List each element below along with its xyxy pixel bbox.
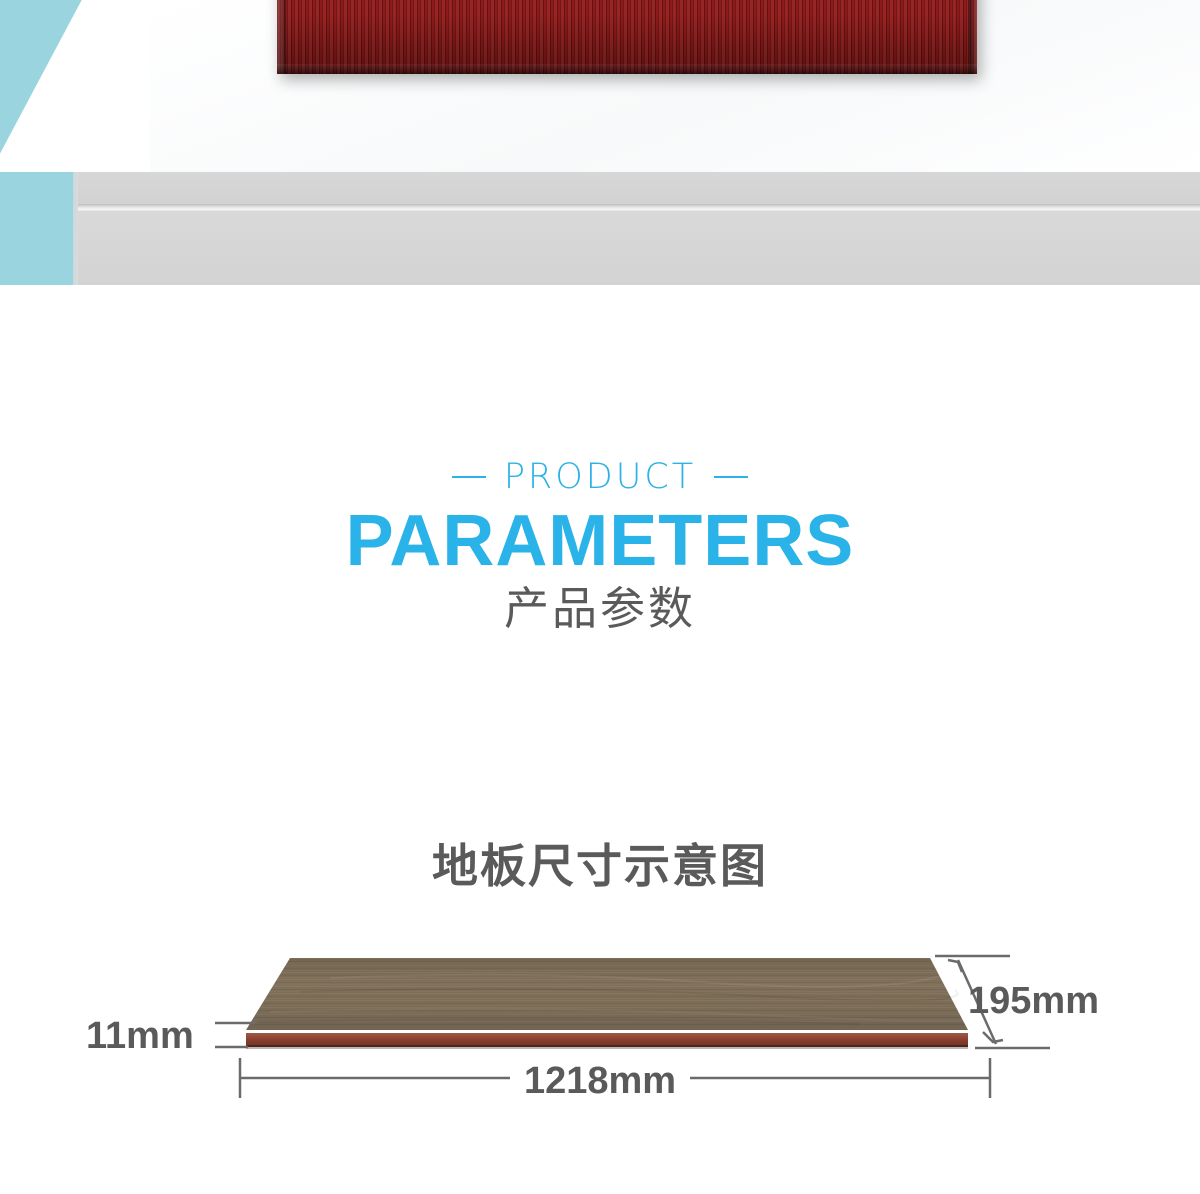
framed-plaque xyxy=(277,0,977,74)
product-photo-banner xyxy=(0,0,1200,285)
dimension-length-label: 1218mm xyxy=(0,1060,1200,1103)
plank-body xyxy=(246,958,980,1049)
eyebrow-row: PRODUCT xyxy=(0,455,1200,499)
cabinet-drawer-upper xyxy=(78,172,1200,204)
frame-bevel-right xyxy=(968,0,977,74)
cabinet-drawer-lower xyxy=(78,212,1200,285)
diagram-title: 地板尺寸示意图 xyxy=(0,830,1200,896)
section-header: PRODUCT PARAMETERS 产品参数 xyxy=(0,455,1200,636)
dimension-thickness-label: 11mm xyxy=(86,1015,194,1058)
page-title: PARAMETERS xyxy=(0,505,1200,578)
frame-bevel-bottom xyxy=(277,64,977,74)
dimension-width-label: 195mm xyxy=(968,980,1099,1023)
frame-bevel-left xyxy=(277,0,286,74)
cabinet-drawer-gap xyxy=(78,204,1200,212)
eyebrow-label: PRODUCT xyxy=(504,460,696,495)
dimension-length-value: 1218mm xyxy=(510,1060,690,1102)
page-subtitle: 产品参数 xyxy=(0,582,1200,636)
eyebrow-dash-right xyxy=(714,476,748,478)
eyebrow-dash-left xyxy=(452,476,486,478)
